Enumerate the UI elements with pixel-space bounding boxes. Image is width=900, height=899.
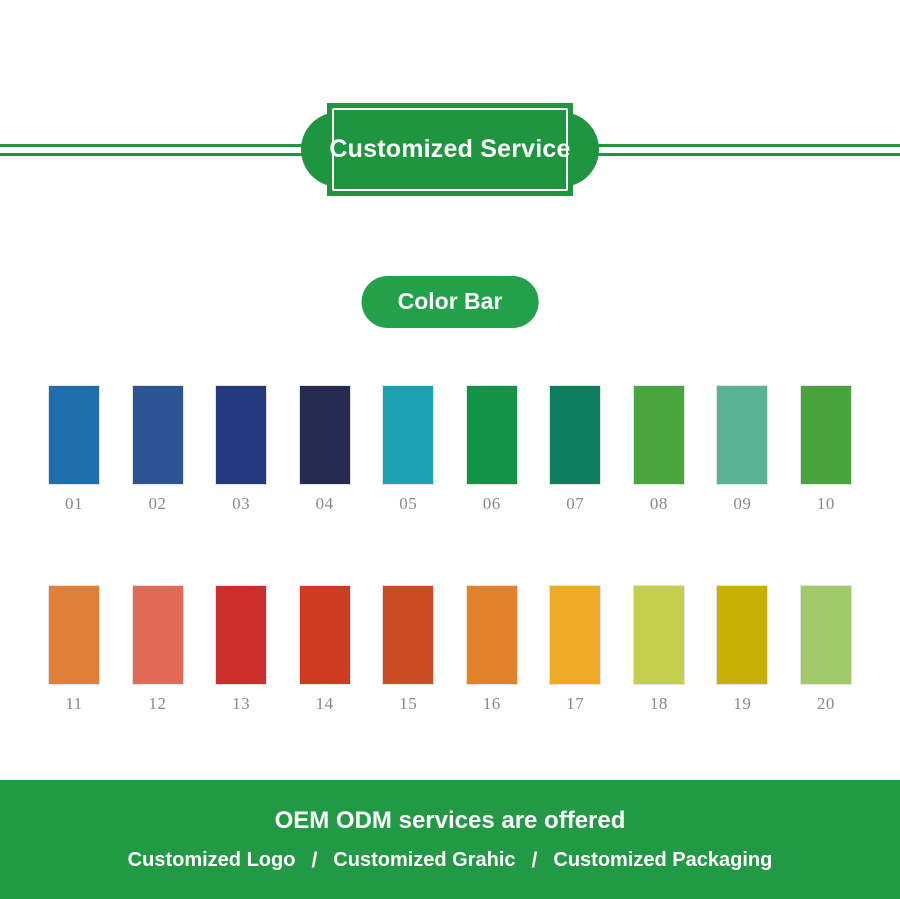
- color-swatch-label: 18: [650, 694, 668, 714]
- color-bar-section-pill: Color Bar: [362, 276, 539, 328]
- color-swatch-chip[interactable]: [633, 385, 685, 485]
- color-swatch-chip[interactable]: [633, 585, 685, 685]
- footer-service-list: Customized Logo/Customized Grahic/Custom…: [128, 849, 773, 873]
- color-swatch-17[interactable]: 17: [549, 585, 601, 714]
- color-swatch-14[interactable]: 14: [299, 585, 351, 714]
- footer-separator: /: [532, 849, 538, 873]
- footer-banner: OEM ODM services are offered Customized …: [0, 780, 900, 899]
- color-swatch-18[interactable]: 18: [633, 585, 685, 714]
- color-swatch-12[interactable]: 12: [132, 585, 184, 714]
- header-banner-band: Customized Service: [0, 103, 900, 196]
- swatch-row-bottom: 11121314151617181920: [48, 585, 852, 714]
- color-swatch-label: 04: [316, 494, 334, 514]
- color-swatch-label: 19: [733, 694, 751, 714]
- color-swatch-label: 03: [232, 494, 250, 514]
- color-swatch-chip[interactable]: [215, 385, 267, 485]
- color-swatch-chip[interactable]: [800, 385, 852, 485]
- color-swatch-chip[interactable]: [466, 385, 518, 485]
- color-swatch-label: 20: [817, 694, 835, 714]
- color-swatch-05[interactable]: 05: [382, 385, 434, 514]
- color-swatch-chip[interactable]: [382, 385, 434, 485]
- swatch-row-top: 01020304050607080910: [48, 385, 852, 514]
- color-swatch-09[interactable]: 09: [716, 385, 768, 514]
- color-swatch-chip[interactable]: [549, 585, 601, 685]
- color-swatch-chip[interactable]: [800, 585, 852, 685]
- footer-service-item: Customized Packaging: [553, 849, 772, 872]
- color-swatch-07[interactable]: 07: [549, 385, 601, 514]
- color-swatch-08[interactable]: 08: [633, 385, 685, 514]
- color-swatch-label: 16: [483, 694, 501, 714]
- color-swatch-label: 12: [149, 694, 167, 714]
- color-swatch-02[interactable]: 02: [132, 385, 184, 514]
- color-swatch-15[interactable]: 15: [382, 585, 434, 714]
- color-swatch-13[interactable]: 13: [215, 585, 267, 714]
- color-swatch-label: 09: [733, 494, 751, 514]
- color-swatch-chip[interactable]: [132, 585, 184, 685]
- color-swatch-chip[interactable]: [716, 585, 768, 685]
- color-swatch-label: 17: [566, 694, 584, 714]
- color-swatch-label: 10: [817, 494, 835, 514]
- color-swatch-label: 02: [149, 494, 167, 514]
- color-swatch-chip[interactable]: [382, 585, 434, 685]
- color-swatch-16[interactable]: 16: [466, 585, 518, 714]
- footer-service-item: Customized Grahic: [333, 849, 515, 872]
- footer-service-item: Customized Logo: [128, 849, 296, 872]
- color-swatch-label: 07: [566, 494, 584, 514]
- color-swatch-chip[interactable]: [48, 385, 100, 485]
- color-swatch-label: 08: [650, 494, 668, 514]
- header-banner-plaque: Customized Service: [319, 103, 581, 196]
- color-swatch-chip[interactable]: [299, 585, 351, 685]
- color-swatch-10[interactable]: 10: [800, 385, 852, 514]
- color-swatch-chip[interactable]: [466, 585, 518, 685]
- color-swatch-01[interactable]: 01: [48, 385, 100, 514]
- color-swatch-label: 01: [65, 494, 83, 514]
- color-swatch-03[interactable]: 03: [215, 385, 267, 514]
- color-swatch-04[interactable]: 04: [299, 385, 351, 514]
- footer-headline: OEM ODM services are offered: [275, 807, 626, 835]
- color-swatch-20[interactable]: 20: [800, 585, 852, 714]
- color-swatch-06[interactable]: 06: [466, 385, 518, 514]
- color-swatch-chip[interactable]: [132, 385, 184, 485]
- color-swatch-chip[interactable]: [299, 385, 351, 485]
- color-swatch-label: 13: [232, 694, 250, 714]
- page-title: Customized Service: [319, 103, 581, 196]
- color-swatch-chip[interactable]: [215, 585, 267, 685]
- color-swatch-19[interactable]: 19: [716, 585, 768, 714]
- color-swatch-label: 14: [316, 694, 334, 714]
- color-bar-page: Customized Service Color Bar 01020304050…: [0, 0, 900, 899]
- color-swatch-label: 05: [399, 494, 417, 514]
- color-swatch-11[interactable]: 11: [48, 585, 100, 714]
- footer-separator: /: [311, 849, 317, 873]
- color-swatch-label: 15: [399, 694, 417, 714]
- color-swatch-chip[interactable]: [48, 585, 100, 685]
- color-swatch-label: 11: [65, 694, 82, 714]
- color-swatch-label: 06: [483, 494, 501, 514]
- color-swatch-chip[interactable]: [716, 385, 768, 485]
- color-swatch-chip[interactable]: [549, 385, 601, 485]
